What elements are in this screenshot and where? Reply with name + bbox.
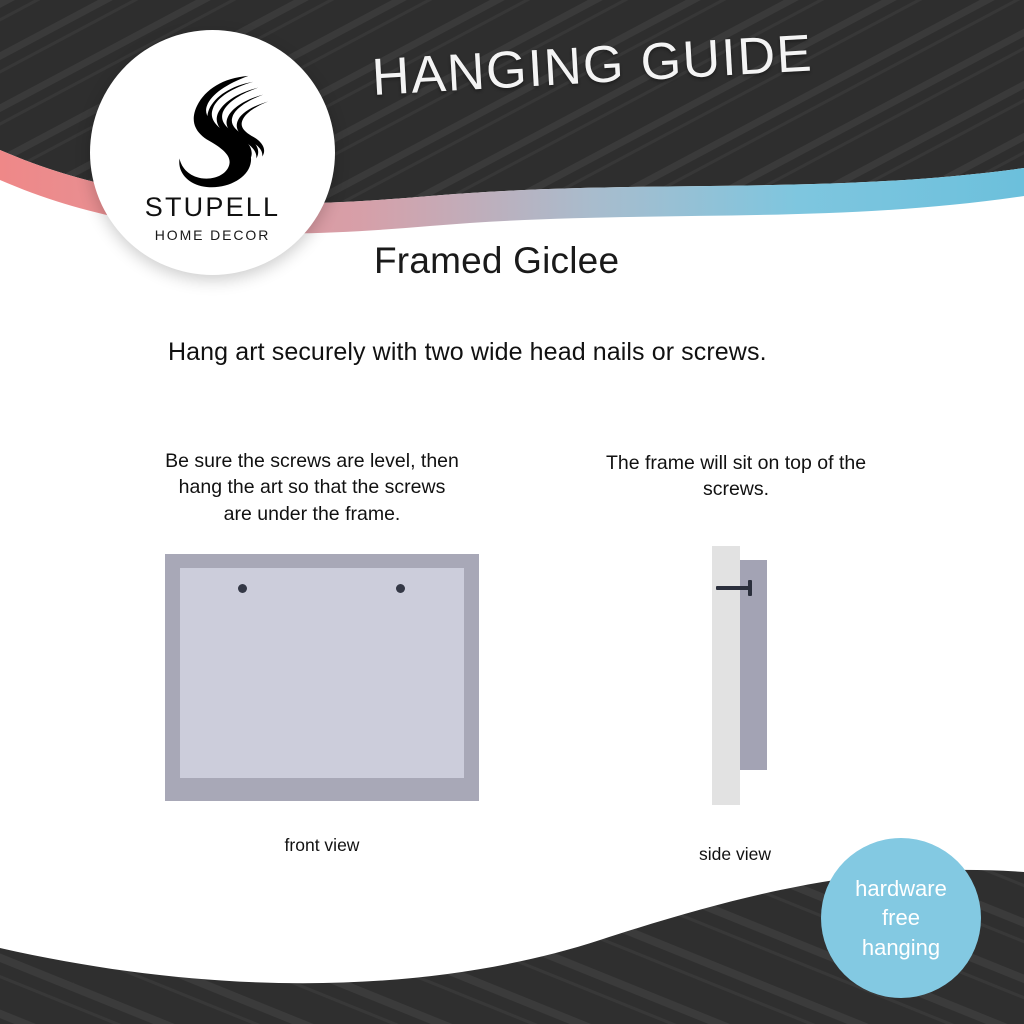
product-type-title: Framed Giclee — [374, 240, 619, 282]
badge-line-1: hardware — [855, 874, 947, 903]
brand-logo-badge: STUPELL HOME DECOR — [90, 30, 335, 275]
brand-subwordmark: HOME DECOR — [155, 228, 270, 242]
side-view-nail-head-icon — [748, 580, 752, 596]
side-view-caption: The frame will sit on top of the screws. — [605, 450, 867, 503]
front-view-frame-diagram — [165, 554, 479, 801]
front-view-label: front view — [182, 835, 462, 856]
screw-dot-right — [396, 584, 405, 593]
badge-line-3: hanging — [862, 933, 940, 962]
screw-dot-left — [238, 584, 247, 593]
page-title: HANGING GUIDE — [370, 23, 814, 108]
side-view-nail-shaft-icon — [716, 586, 752, 590]
brand-wordmark: STUPELL — [145, 194, 280, 221]
side-view-label: side view — [625, 844, 845, 865]
badge-line-2: free — [882, 903, 920, 932]
front-view-frame-mat — [180, 568, 464, 778]
side-view-wall — [712, 546, 740, 805]
lead-instruction-text: Hang art securely with two wide head nai… — [168, 338, 767, 367]
stupell-swoosh-logo-icon — [153, 68, 273, 190]
side-view-frame — [740, 560, 767, 770]
hardware-free-hanging-badge: hardware free hanging — [821, 838, 981, 998]
hanging-guide-page: STUPELL HOME DECOR HANGING GUIDE Framed … — [0, 0, 1024, 1024]
front-view-caption: Be sure the screws are level, then hang … — [162, 448, 462, 527]
